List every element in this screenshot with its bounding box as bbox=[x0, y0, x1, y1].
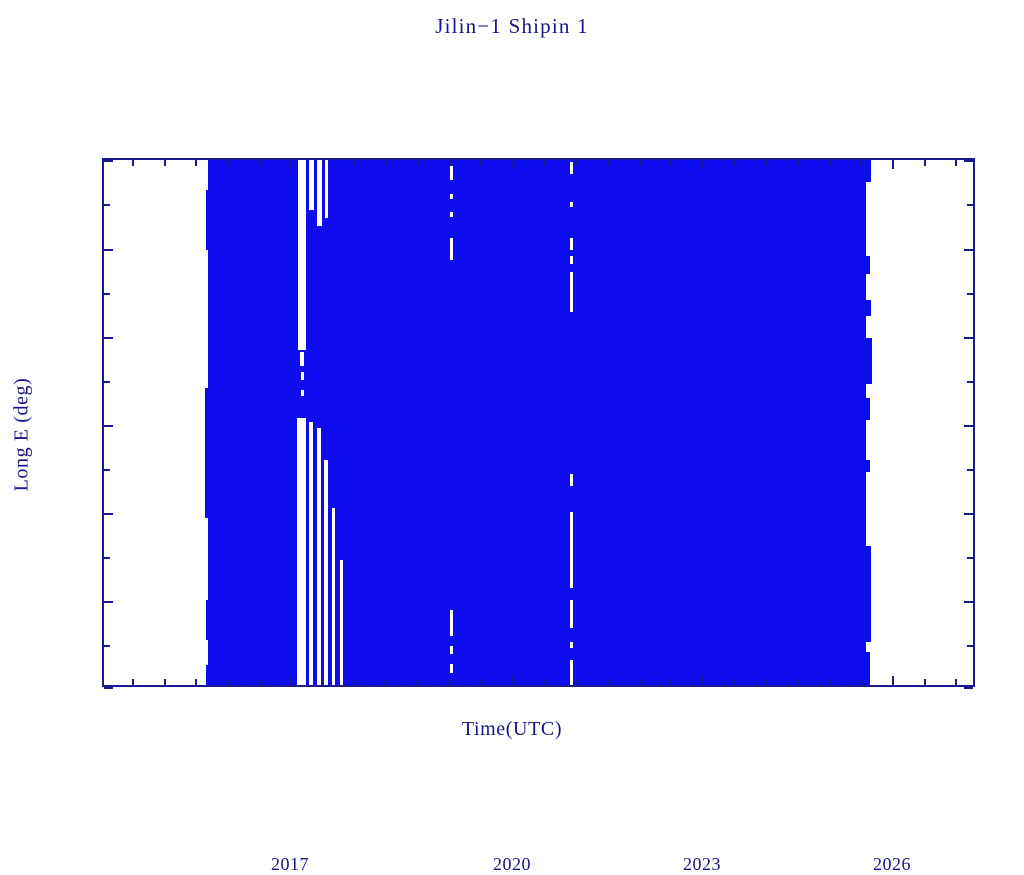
x-tick-minor bbox=[259, 679, 261, 685]
y-tick-right-minor bbox=[967, 557, 973, 559]
x-tick-top-minor bbox=[575, 160, 577, 166]
x-tick-minor bbox=[829, 679, 831, 685]
data-gap bbox=[570, 600, 573, 628]
data-gap bbox=[298, 160, 306, 350]
data-gap bbox=[332, 508, 335, 685]
y-tick-right-major bbox=[964, 425, 973, 427]
coverage-fringe-right bbox=[866, 460, 870, 472]
data-gap bbox=[301, 390, 304, 396]
y-tick-major bbox=[104, 249, 113, 251]
y-tick-right-minor bbox=[967, 645, 973, 647]
y-axis-title: Long E (deg) bbox=[11, 235, 34, 635]
y-tick-right-major bbox=[964, 160, 973, 162]
x-tick-minor bbox=[385, 679, 387, 685]
y-tick-right-minor bbox=[967, 293, 973, 295]
data-gap bbox=[570, 162, 573, 174]
x-tick-minor bbox=[227, 679, 229, 685]
x-tick-top-minor bbox=[322, 160, 324, 166]
x-tick-top-minor bbox=[955, 160, 957, 166]
x-tick-major bbox=[512, 676, 514, 685]
x-tick-minor bbox=[195, 679, 197, 685]
data-gap bbox=[325, 160, 328, 218]
x-tick-top-minor bbox=[164, 160, 166, 166]
x-tick-label-2026: 2026 bbox=[873, 854, 911, 875]
plot-area: 120 00 −120 2017 2020 2023 2026 bbox=[102, 158, 975, 687]
data-gap bbox=[309, 422, 313, 685]
x-tick-top-minor bbox=[765, 160, 767, 166]
x-tick-top-minor bbox=[385, 160, 387, 166]
x-tick-top-minor bbox=[860, 160, 862, 166]
coverage-fringe-left bbox=[205, 388, 209, 518]
coverage-band bbox=[208, 160, 866, 685]
x-tick-top-minor bbox=[354, 160, 356, 166]
x-tick-major bbox=[702, 676, 704, 685]
x-tick-major bbox=[290, 676, 292, 685]
y-tick-right-minor bbox=[967, 469, 973, 471]
x-tick-minor bbox=[860, 679, 862, 685]
x-tick-top-minor bbox=[797, 160, 799, 166]
x-tick-top-minor bbox=[639, 160, 641, 166]
x-tick-minor bbox=[417, 679, 419, 685]
y-tick-right-major bbox=[964, 687, 973, 689]
data-gap bbox=[450, 194, 453, 199]
y-tick-right-major bbox=[964, 337, 973, 339]
y-tick-right-major bbox=[964, 601, 973, 603]
longitude-vs-time-chart: Jilin−1 Shipin 1 Long E (deg) Time(UTC) bbox=[0, 0, 1024, 768]
y-tick-right-minor bbox=[967, 204, 973, 206]
y-tick-major bbox=[104, 513, 113, 515]
y-tick-major bbox=[104, 425, 113, 427]
coverage-fringe-right bbox=[866, 300, 871, 316]
data-gap bbox=[324, 460, 328, 685]
x-tick-top-minor bbox=[829, 160, 831, 166]
x-tick-label-2020: 2020 bbox=[493, 854, 531, 875]
chart-title: Jilin−1 Shipin 1 bbox=[0, 14, 1024, 39]
x-tick-minor bbox=[797, 679, 799, 685]
data-gap bbox=[301, 372, 304, 380]
x-tick-minor bbox=[955, 679, 957, 685]
x-tick-top-minor bbox=[607, 160, 609, 166]
x-tick-minor bbox=[924, 679, 926, 685]
y-tick-minor bbox=[104, 204, 110, 206]
data-gap bbox=[570, 642, 573, 648]
x-tick-top-minor bbox=[449, 160, 451, 166]
x-tick-minor bbox=[132, 679, 134, 685]
data-layer bbox=[104, 160, 973, 685]
x-tick-top-minor bbox=[924, 160, 926, 166]
y-tick-major bbox=[104, 687, 113, 689]
y-tick-major bbox=[104, 160, 113, 162]
coverage-fringe-right bbox=[866, 546, 871, 642]
coverage-fringe-left bbox=[206, 190, 209, 250]
x-tick-top-major bbox=[702, 160, 704, 169]
x-tick-minor bbox=[639, 679, 641, 685]
coverage-fringe-left bbox=[206, 665, 209, 685]
x-tick-top-major bbox=[892, 160, 894, 169]
data-gap bbox=[450, 212, 453, 217]
x-tick-minor bbox=[322, 679, 324, 685]
y-tick-minor bbox=[104, 381, 110, 383]
y-tick-right-major bbox=[964, 249, 973, 251]
x-tick-top-major bbox=[512, 160, 514, 169]
y-tick-right-minor bbox=[967, 381, 973, 383]
x-tick-top-minor bbox=[544, 160, 546, 166]
data-gap bbox=[340, 560, 343, 685]
y-tick-major bbox=[104, 601, 113, 603]
x-tick-top-minor bbox=[480, 160, 482, 166]
y-tick-minor bbox=[104, 645, 110, 647]
x-tick-minor bbox=[449, 679, 451, 685]
x-axis-title: Time(UTC) bbox=[0, 718, 1024, 741]
x-tick-top-minor bbox=[195, 160, 197, 166]
data-gap bbox=[570, 238, 573, 250]
data-gap bbox=[309, 160, 314, 210]
x-tick-top-minor bbox=[132, 160, 134, 166]
data-gap bbox=[450, 646, 453, 654]
coverage-fringe-right bbox=[866, 652, 870, 685]
data-gap bbox=[570, 256, 573, 264]
x-tick-top-major bbox=[290, 160, 292, 169]
coverage-fringe-right bbox=[866, 338, 872, 384]
x-tick-minor bbox=[354, 679, 356, 685]
x-tick-minor bbox=[734, 679, 736, 685]
data-gap bbox=[570, 474, 573, 486]
data-gap bbox=[570, 660, 573, 685]
data-gap bbox=[317, 160, 322, 226]
x-tick-minor bbox=[544, 679, 546, 685]
coverage-fringe-right bbox=[866, 160, 871, 182]
y-tick-minor bbox=[104, 557, 110, 559]
x-tick-minor bbox=[670, 679, 672, 685]
coverage-fringe-right bbox=[866, 256, 870, 274]
y-tick-minor bbox=[104, 293, 110, 295]
data-gap bbox=[570, 272, 573, 312]
data-gap bbox=[450, 610, 453, 636]
x-tick-minor bbox=[164, 679, 166, 685]
x-tick-major bbox=[892, 676, 894, 685]
x-tick-minor bbox=[765, 679, 767, 685]
y-tick-minor bbox=[104, 469, 110, 471]
x-tick-minor bbox=[480, 679, 482, 685]
data-gap bbox=[570, 512, 573, 588]
y-tick-right-major bbox=[964, 513, 973, 515]
x-tick-top-minor bbox=[417, 160, 419, 166]
data-gap bbox=[317, 428, 321, 685]
data-gap bbox=[570, 202, 573, 207]
coverage-fringe-right bbox=[866, 398, 870, 420]
x-tick-top-minor bbox=[734, 160, 736, 166]
x-tick-minor bbox=[575, 679, 577, 685]
data-gap bbox=[450, 166, 453, 180]
data-gap bbox=[450, 664, 453, 673]
data-gap bbox=[300, 352, 304, 366]
data-gap bbox=[450, 238, 453, 260]
data-gap bbox=[297, 418, 306, 685]
x-tick-top-minor bbox=[670, 160, 672, 166]
x-tick-top-minor bbox=[259, 160, 261, 166]
x-tick-label-2017: 2017 bbox=[271, 854, 309, 875]
y-tick-major bbox=[104, 337, 113, 339]
x-tick-top-minor bbox=[227, 160, 229, 166]
coverage-fringe-left bbox=[206, 600, 209, 640]
x-tick-label-2023: 2023 bbox=[683, 854, 721, 875]
x-tick-minor bbox=[607, 679, 609, 685]
